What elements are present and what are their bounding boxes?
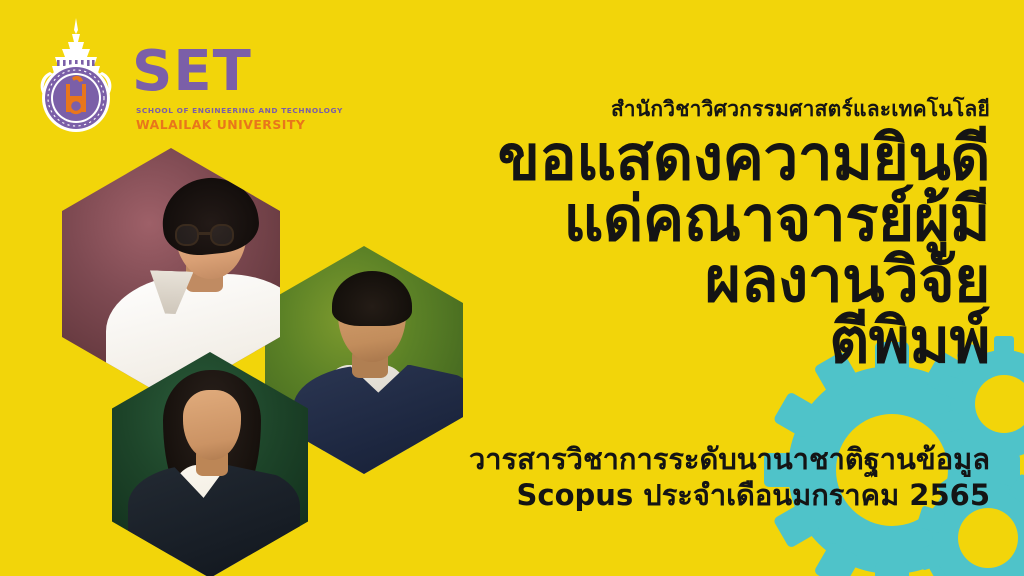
headline-line-2: แด่คณาจารย์ผู้มี — [370, 189, 990, 250]
set-wordmark: SET — [132, 46, 252, 98]
eyebrow-text: สำนักวิชาวิศวกรรมศาสตร์และเทคโนโลยี — [370, 96, 990, 122]
headline-line-4: ตีพิมพ์ — [370, 311, 990, 372]
caption-line-1: วารสารวิชาการระดับนานาชาติฐานข้อมูล — [350, 442, 990, 478]
set-university-name: WALAILAK UNIVERSITY — [136, 117, 305, 132]
portrait-1-glasses-right — [210, 224, 234, 247]
caption-block: วารสารวิชาการระดับนานาชาติฐานข้อมูล Scop… — [350, 442, 990, 514]
portrait-1-glasses-bridge — [199, 232, 211, 235]
poster-canvas: SET SCHOOL OF ENGINEERING AND TECHNOLOGY… — [0, 0, 1024, 576]
headline-line-3: ผลงานวิจัย — [370, 250, 990, 311]
headline-block: สำนักวิชาวิศวกรรมศาสตร์และเทคโนโลยี ขอแส… — [370, 96, 990, 371]
walailak-university-seal-icon — [28, 16, 124, 136]
portrait-photo-1 — [62, 148, 280, 400]
logo-lockup: SET SCHOOL OF ENGINEERING AND TECHNOLOGY… — [28, 14, 278, 138]
portrait-1-glasses-left — [175, 224, 199, 247]
headline-line-1: ขอแสดงความยินดี — [370, 128, 990, 189]
caption-line-2: Scopus ประจำเดือนมกราคม 2565 — [350, 478, 990, 514]
set-subtitle: SCHOOL OF ENGINEERING AND TECHNOLOGY — [136, 106, 343, 115]
portrait-hex-1 — [62, 148, 280, 400]
